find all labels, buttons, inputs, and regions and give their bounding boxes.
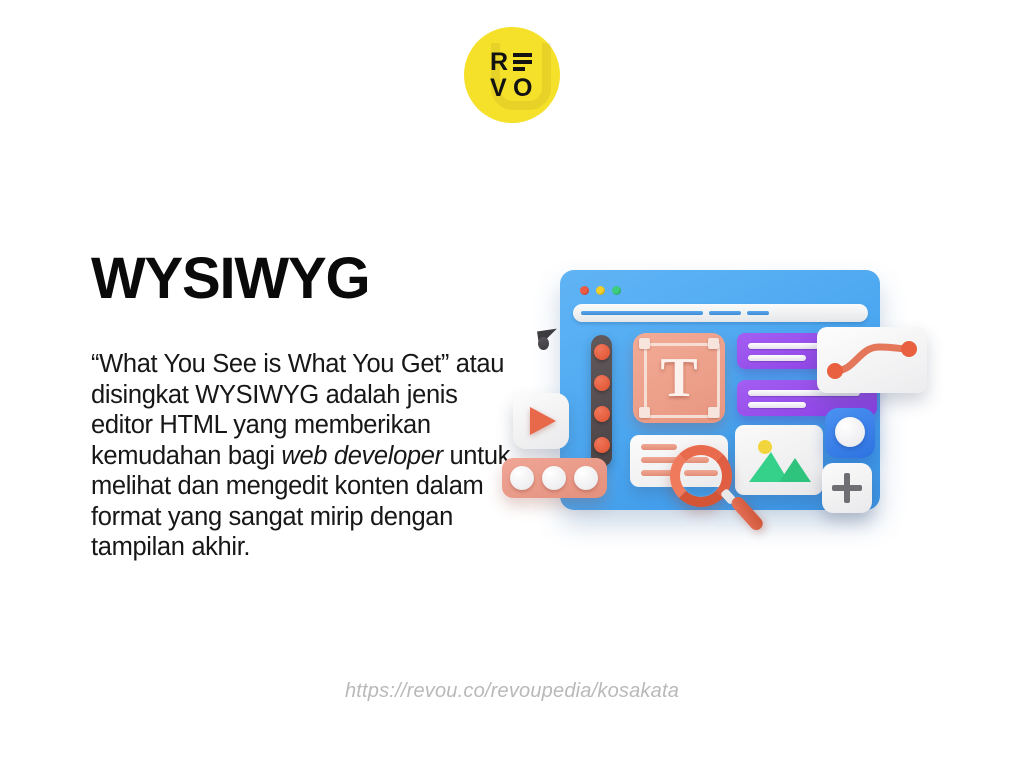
revou-logo: R V O bbox=[464, 27, 560, 123]
content-line bbox=[641, 470, 673, 476]
address-bar-segment bbox=[747, 311, 769, 315]
maximize-dot-icon bbox=[612, 286, 621, 295]
toolbar-column-graphic bbox=[591, 335, 612, 467]
play-icon bbox=[530, 407, 556, 435]
logo-letter-v: V bbox=[490, 75, 513, 101]
logo-letter-e bbox=[513, 49, 536, 75]
chart-card bbox=[817, 327, 927, 393]
cursor-knob bbox=[538, 337, 549, 350]
logo-letter-grid: R V O bbox=[464, 27, 560, 123]
source-url: https://revou.co/revoupedia/kosakata bbox=[0, 680, 1024, 703]
page-description: “What You See is What You Get” atau disi… bbox=[91, 349, 521, 563]
toolbar-dot-icon bbox=[594, 375, 610, 391]
address-bar-segment bbox=[709, 311, 741, 315]
plus-icon bbox=[844, 473, 850, 503]
logo-letter-e-bars bbox=[513, 53, 532, 71]
page-title: WYSIWYG bbox=[91, 248, 369, 310]
curve-chart-icon bbox=[817, 327, 927, 393]
close-dot-icon bbox=[580, 286, 589, 295]
magnifier-icon bbox=[670, 445, 765, 545]
logo-letter-o: O bbox=[513, 75, 536, 101]
text-tool-glyph: T bbox=[633, 349, 725, 407]
toggle-dot-icon bbox=[574, 466, 598, 490]
wysiwyg-editor-illustration: T bbox=[505, 255, 965, 555]
magnifier-handle bbox=[729, 494, 765, 532]
description-emphasis: web developer bbox=[281, 442, 442, 470]
play-card bbox=[513, 393, 569, 449]
logo-letter-r: R bbox=[490, 49, 513, 75]
selection-handle-bottom-left bbox=[639, 407, 650, 418]
logo-e-bar-bottom bbox=[513, 67, 525, 71]
minimize-dot-icon bbox=[596, 286, 605, 295]
selection-handle-bottom-right bbox=[708, 407, 719, 418]
toolbar-dot-icon bbox=[594, 437, 610, 453]
text-tool-card: T bbox=[633, 333, 725, 423]
toggle-dot-icon bbox=[510, 466, 534, 490]
salmon-dots-bar bbox=[502, 458, 607, 498]
selection-handle-top-left bbox=[639, 338, 650, 349]
traffic-light-dots bbox=[580, 286, 621, 295]
circle-icon bbox=[835, 417, 865, 447]
toolbar-dot-icon bbox=[594, 406, 610, 422]
blue-circle-badge bbox=[825, 408, 875, 458]
toggle-dot-icon bbox=[542, 466, 566, 490]
plus-card bbox=[822, 463, 872, 513]
toolbar-dot-icon bbox=[594, 344, 610, 360]
content-line bbox=[748, 355, 806, 361]
address-bar-graphic bbox=[573, 304, 868, 322]
selection-handle-top-right bbox=[708, 338, 719, 349]
address-bar-segment bbox=[581, 311, 703, 315]
content-line bbox=[748, 402, 806, 408]
cursor-pin-icon bbox=[536, 330, 562, 356]
logo-e-bar-top bbox=[513, 53, 532, 57]
logo-e-bar-mid bbox=[513, 60, 532, 64]
